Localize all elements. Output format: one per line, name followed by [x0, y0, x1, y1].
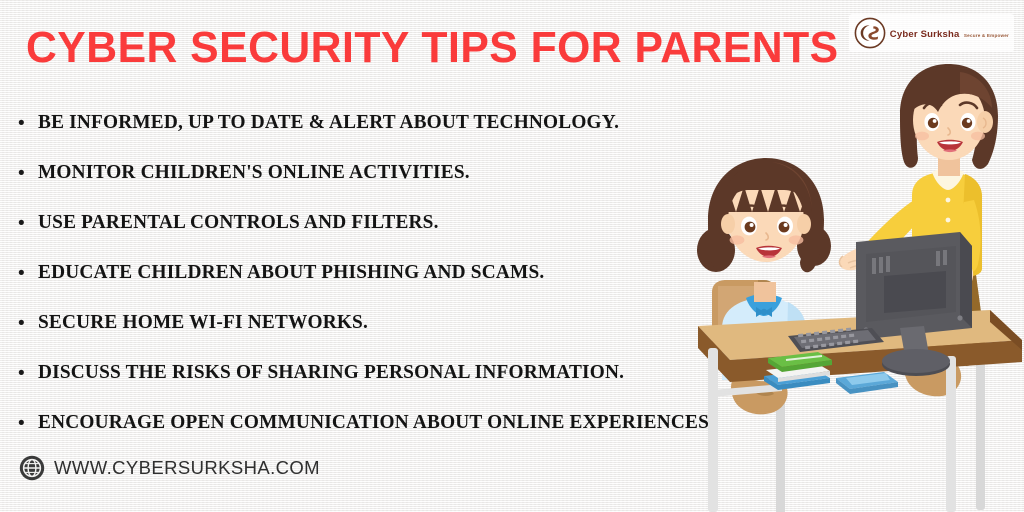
list-item: • ENCOURAGE OPEN COMMUNICATION ABOUT ONL…: [18, 398, 758, 448]
footer: WWW.CYBERSURKSHA.COM: [19, 455, 320, 481]
bullet-icon: •: [18, 214, 38, 233]
bullet-icon: •: [18, 114, 38, 133]
bullet-icon: •: [18, 264, 38, 283]
tips-list: • BE INFORMED, UP TO DATE & ALERT ABOUT …: [18, 98, 758, 448]
website-url[interactable]: WWW.CYBERSURKSHA.COM: [54, 457, 320, 479]
globe-icon: [19, 455, 45, 481]
bullet-icon: •: [18, 414, 38, 433]
list-item: • SECURE HOME WI-FI NETWORKS.: [18, 298, 758, 348]
logo-monogram-icon: [854, 17, 886, 49]
list-item: • DISCUSS THE RISKS OF SHARING PERSONAL …: [18, 348, 758, 398]
poster-canvas: CYBER SECURITY TIPS FOR PARENTS • BE INF…: [0, 0, 1024, 512]
tip-text: SECURE HOME WI-FI NETWORKS.: [38, 312, 368, 334]
tip-text: MONITOR CHILDREN'S ONLINE ACTIVITIES.: [38, 162, 470, 184]
list-item: • BE INFORMED, UP TO DATE & ALERT ABOUT …: [18, 98, 758, 148]
logo-name: Cyber Surksha: [890, 29, 960, 40]
tip-text: EDUCATE CHILDREN ABOUT PHISHING AND SCAM…: [38, 262, 544, 284]
bullet-icon: •: [18, 364, 38, 383]
bullet-icon: •: [18, 164, 38, 183]
logo-tagline: Secure & Empower: [964, 33, 1009, 38]
list-item: • MONITOR CHILDREN'S ONLINE ACTIVITIES.: [18, 148, 758, 198]
tip-text: BE INFORMED, UP TO DATE & ALERT ABOUT TE…: [38, 112, 619, 134]
brand-logo[interactable]: Cyber Surksha Secure & Empower: [849, 14, 1014, 52]
list-item: • EDUCATE CHILDREN ABOUT PHISHING AND SC…: [18, 248, 758, 298]
tip-text: DISCUSS THE RISKS OF SHARING PERSONAL IN…: [38, 362, 624, 384]
bullet-icon: •: [18, 314, 38, 333]
tip-text: USE PARENTAL CONTROLS AND FILTERS.: [38, 212, 439, 234]
logo-text-block: Cyber Surksha Secure & Empower: [890, 25, 1009, 41]
tip-text: ENCOURAGE OPEN COMMUNICATION ABOUT ONLIN…: [38, 412, 714, 434]
illustration-mother-and-daughter-at-computer: [660, 60, 1024, 512]
list-item: • USE PARENTAL CONTROLS AND FILTERS.: [18, 198, 758, 248]
